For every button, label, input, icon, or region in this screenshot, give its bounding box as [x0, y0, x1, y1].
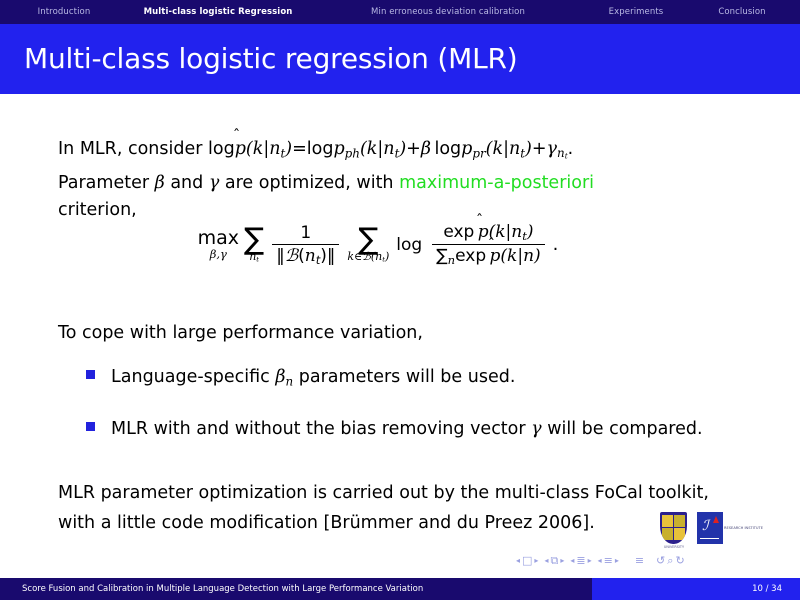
previous-section-icon[interactable]: ◂	[598, 555, 602, 566]
institute-logo-accent	[713, 516, 719, 523]
institute-logo-icon: ℐ	[697, 512, 723, 544]
bullet-text-bias-removing-vector: MLR with and without the bias removing v…	[111, 414, 703, 444]
frames-icon[interactable]: ⧉	[550, 555, 558, 566]
frames-navigation-group[interactable]: ◂ ⧉ ▸	[544, 555, 564, 566]
bullet-text-language-specific: Language-specific βn parameters will be …	[111, 362, 515, 396]
bullet-1-prefix: Language-specific	[111, 367, 270, 387]
max-operator-limits: β,γ	[210, 249, 227, 261]
softmax-fraction: exp p̂(k|nt) ∑nexp p̂(k|n)	[432, 222, 544, 267]
next-frames-icon[interactable]: ▸	[560, 555, 564, 566]
highlight-maximum-a-posteriori: maximum-a-posteriori	[399, 173, 594, 193]
footer-bar: Score Fusion and Calibration in Multiple…	[0, 578, 800, 600]
intro-inline-equation: logp̂(k|nt)=logpph(k|nt)+β logppr(k|nt)+…	[208, 139, 568, 159]
search-icon[interactable]: ⌕	[667, 555, 673, 566]
focal-toolkit-paragraph: MLR parameter optimization is carried ou…	[58, 478, 748, 538]
forward-icon[interactable]: ↻	[675, 555, 684, 566]
institute-logo-glyph: ℐ	[702, 519, 709, 533]
university-crest-icon: UNIVERSITY	[660, 512, 687, 544]
nav-item-experiments[interactable]: Experiments	[588, 0, 684, 24]
inner-sum-symbol: ∑	[358, 226, 378, 253]
bullet-2-prefix: MLR with and without the bias removing v…	[111, 419, 526, 439]
previous-frames-icon[interactable]: ◂	[544, 555, 548, 566]
equation-log-label: log	[396, 235, 422, 255]
crest-shield-shape	[660, 512, 687, 544]
crest-quadrant-bottom-right	[674, 528, 685, 540]
max-operator-label: max	[198, 229, 239, 248]
intro-line3: criterion,	[58, 200, 137, 220]
page-title: Multi-class logistic regression (MLR)	[24, 42, 517, 75]
crest-caption: UNIVERSITY	[656, 545, 692, 550]
previous-frame-icon[interactable]: ◂	[516, 555, 520, 566]
intro-line2-prefix: Parameter	[58, 173, 149, 193]
outer-sum-symbol: ∑	[244, 226, 264, 253]
beta-symbol-inline: β	[155, 173, 165, 193]
bullet-1-suffix: parameters will be used.	[299, 367, 516, 387]
previous-subsection-icon[interactable]: ◂	[570, 555, 574, 566]
outer-summation: ∑ nt	[244, 226, 264, 263]
title-band: Multi-class logistic regression (MLR)	[0, 28, 800, 94]
list-item: MLR with and without the bias removing v…	[86, 414, 746, 444]
logo-group: UNIVERSITY ℐ RESEARCH INSTITUTE	[660, 512, 790, 554]
intro-line2-suffix: are optimized, with	[225, 173, 394, 193]
institute-caption: RESEARCH INSTITUTE	[724, 526, 788, 531]
footer-presentation-title: Score Fusion and Calibration in Multiple…	[0, 578, 592, 600]
normalizing-fraction-denominator: ‖ℬ(nt)‖	[272, 244, 339, 267]
bullet-2-symbol: γ	[531, 419, 541, 439]
beamer-navigation-symbols[interactable]: ◂ □ ▸ ◂ ⧉ ▸ ◂ ≣ ▸ ◂ ≡ ▸ ≡ ↺ ⌕ ↻	[516, 552, 786, 568]
max-operator: max β,γ	[198, 229, 239, 261]
footer-page-number: 10 / 34	[752, 578, 782, 600]
square-bullet-icon	[86, 370, 95, 379]
next-subsection-icon[interactable]: ▸	[588, 555, 592, 566]
back-icon[interactable]: ↺	[656, 555, 665, 566]
list-item: Language-specific βn parameters will be …	[86, 362, 746, 396]
slide-body: In MLR, consider logp̂(k|nt)=logpph(k|nt…	[0, 94, 800, 574]
bullet-1-symbol: βn	[275, 367, 293, 387]
bullet-list: Language-specific βn parameters will be …	[86, 362, 746, 462]
subsection-icon[interactable]: ≣	[576, 555, 585, 566]
institute-logo-bar	[700, 538, 719, 540]
normalizing-fraction-numerator: 1	[296, 223, 315, 244]
focal-paragraph-line2: with a little code modification [Brümmer…	[58, 513, 595, 533]
normalizing-fraction: 1 ‖ℬ(nt)‖	[272, 223, 339, 267]
crest-quadrant-top-left	[662, 515, 673, 527]
intro-paragraph: In MLR, consider logp̂(k|nt)=logpph(k|nt…	[58, 136, 748, 224]
top-navigation-bar: Introduction Multi-class logistic Regres…	[0, 0, 800, 24]
section-icon[interactable]: ≡	[604, 555, 613, 566]
frame-icon[interactable]: □	[522, 555, 532, 566]
intro-period: .	[568, 139, 574, 159]
crest-quadrant-bottom-left	[662, 528, 673, 540]
nav-item-min-erroneous-deviation-calibration[interactable]: Min erroneous deviation calibration	[338, 0, 558, 24]
gamma-symbol-inline: γ	[209, 173, 219, 193]
inner-sum-subscript: k∈ℬ(nt)	[347, 252, 389, 263]
bullet-2-suffix: will be compared.	[547, 419, 702, 439]
next-frame-icon[interactable]: ▸	[534, 555, 538, 566]
display-equation: max β,γ ∑ nt 1 ‖ℬ(nt)‖ ∑ k∈ℬ(nt) log exp…	[0, 222, 800, 267]
subsection-navigation-group[interactable]: ◂ ≣ ▸	[570, 555, 591, 566]
cope-line: To cope with large performance variation…	[58, 320, 748, 347]
nav-item-introduction[interactable]: Introduction	[24, 0, 104, 24]
softmax-denominator: ∑nexp p̂(k|n)	[432, 244, 544, 267]
document-icon[interactable]: ≡	[635, 555, 644, 566]
section-navigation-group[interactable]: ◂ ≡ ▸	[598, 555, 619, 566]
outer-sum-subscript: nt	[249, 252, 259, 263]
softmax-numerator: exp p̂(k|nt)	[439, 222, 537, 244]
equation-trailing-period: .	[553, 234, 559, 255]
square-bullet-icon	[86, 422, 95, 431]
frame-navigation-group[interactable]: ◂ □ ▸	[516, 555, 538, 566]
inner-summation: ∑ k∈ℬ(nt)	[347, 226, 389, 263]
focal-paragraph-line1: MLR parameter optimization is carried ou…	[58, 483, 709, 503]
intro-lead: In MLR, consider	[58, 139, 202, 159]
crest-quadrant-top-right	[674, 515, 685, 527]
intro-line2-mid: and	[170, 173, 203, 193]
next-section-icon[interactable]: ▸	[615, 555, 619, 566]
nav-item-multi-class-logistic-regression[interactable]: Multi-class logistic Regression	[118, 0, 318, 24]
nav-item-conclusion[interactable]: Conclusion	[700, 0, 784, 24]
